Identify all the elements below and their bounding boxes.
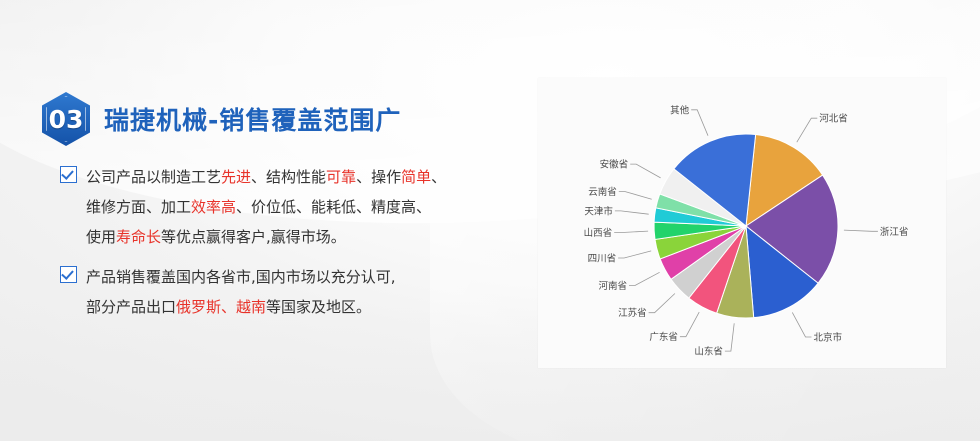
section-heading: 03 瑞捷机械-销售覆盖范围广 xyxy=(42,92,401,146)
list-item: 公司产品以制造工艺先进、结构性能可靠、操作简单、维修方面、加工效率高、价位低、能… xyxy=(60,162,530,252)
checkbox-icon xyxy=(60,266,77,283)
pie-slice-label: 江苏省 xyxy=(618,307,647,319)
pie-slice-label: 其他 xyxy=(670,104,690,116)
plain-text: 使用 xyxy=(86,228,116,246)
pie-slice-label: 浙江省 xyxy=(880,226,909,238)
pie-slice-label: 广东省 xyxy=(649,331,678,343)
bullet-line: 公司产品以制造工艺先进、结构性能可靠、操作简单、 xyxy=(86,162,446,192)
pie-chart-svg: 河北省浙江省北京市山东省广东省江苏省河南省四川省山西省天津市云南省安徽省其他 xyxy=(538,78,946,368)
plain-text: 维修方面、加工 xyxy=(86,198,191,216)
bullet-line: 使用寿命长等优点赢得客户,赢得市场。 xyxy=(86,222,446,252)
pie-label-leader xyxy=(691,110,708,136)
bullet-line: 产品销售覆盖国内各省市,国内市场以充分认可, xyxy=(86,262,396,292)
pie-label-leader xyxy=(844,230,878,231)
pie-slice-label: 山西省 xyxy=(584,227,613,239)
plain-text: 、操作 xyxy=(356,168,401,186)
plain-text: 部分产品出口 xyxy=(86,298,176,316)
page-title: 瑞捷机械-销售覆盖范围广 xyxy=(104,101,401,137)
pie-label-leader xyxy=(618,251,651,258)
bullet-line: 维修方面、加工效率高、价位低、能耗低、精度高、 xyxy=(86,192,446,222)
plain-text: 等优点赢得客户,赢得市场。 xyxy=(161,228,346,246)
pie-slice-label: 四川省 xyxy=(588,253,617,265)
pie-label-leader xyxy=(680,312,699,337)
pie-label-leader xyxy=(615,211,649,214)
bullet-line: 部分产品出口俄罗斯、越南等国家及地区。 xyxy=(86,292,396,322)
pie-label-leader xyxy=(619,192,652,200)
highlight-text: 俄罗斯、越南 xyxy=(176,298,266,316)
plain-text: 、结构性能 xyxy=(251,168,326,186)
pie-label-leader xyxy=(614,231,648,233)
pie-chart: 河北省浙江省北京市山东省广东省江苏省河南省四川省山西省天津市云南省安徽省其他 xyxy=(538,78,946,368)
pie-slice-label: 云南省 xyxy=(588,186,617,198)
plain-text: 公司产品以制造工艺 xyxy=(86,168,221,186)
list-item: 产品销售覆盖国内各省市,国内市场以充分认可,部分产品出口俄罗斯、越南等国家及地区… xyxy=(60,262,530,322)
section-number-badge: 03 xyxy=(42,92,90,146)
bullet-text: 产品销售覆盖国内各省市,国内市场以充分认可,部分产品出口俄罗斯、越南等国家及地区… xyxy=(86,262,396,322)
highlight-text: 简单 xyxy=(401,168,431,186)
pie-label-leader xyxy=(792,312,811,337)
chart-card: 河北省浙江省北京市山东省广东省江苏省河南省四川省山西省天津市云南省安徽省其他 xyxy=(538,78,946,368)
plain-text: 、 xyxy=(431,168,446,186)
highlight-text: 寿命长 xyxy=(116,228,161,246)
highlight-text: 可靠 xyxy=(326,168,356,186)
pie-label-leader xyxy=(725,323,734,351)
highlight-text: 先进 xyxy=(221,168,251,186)
pie-slice-label: 河南省 xyxy=(598,280,627,292)
pie-slice-label: 北京市 xyxy=(814,332,843,344)
pie-slice-label: 安徽省 xyxy=(600,159,629,171)
pie-slice-label: 天津市 xyxy=(584,205,613,217)
bullet-list: 公司产品以制造工艺先进、结构性能可靠、操作简单、维修方面、加工效率高、价位低、能… xyxy=(60,162,530,332)
checkbox-icon xyxy=(60,166,77,183)
plain-text: 、价位低、能耗低、精度高、 xyxy=(236,198,431,216)
plain-text: 等国家及地区。 xyxy=(266,298,371,316)
pie-label-leader xyxy=(629,272,660,285)
pie-label-leader xyxy=(630,164,660,178)
plain-text: 产品销售覆盖国内各省市,国内市场以充分认可, xyxy=(86,268,396,286)
pie-label-leader xyxy=(649,294,675,313)
pie-label-leader xyxy=(797,118,818,142)
pie-slice-label: 河北省 xyxy=(819,113,848,125)
promo-banner: 03 瑞捷机械-销售覆盖范围广 公司产品以制造工艺先进、结构性能可靠、操作简单、… xyxy=(0,0,980,441)
pie-slice-label: 山东省 xyxy=(694,346,723,358)
bullet-text: 公司产品以制造工艺先进、结构性能可靠、操作简单、维修方面、加工效率高、价位低、能… xyxy=(86,162,446,252)
highlight-text: 效率高 xyxy=(191,198,236,216)
